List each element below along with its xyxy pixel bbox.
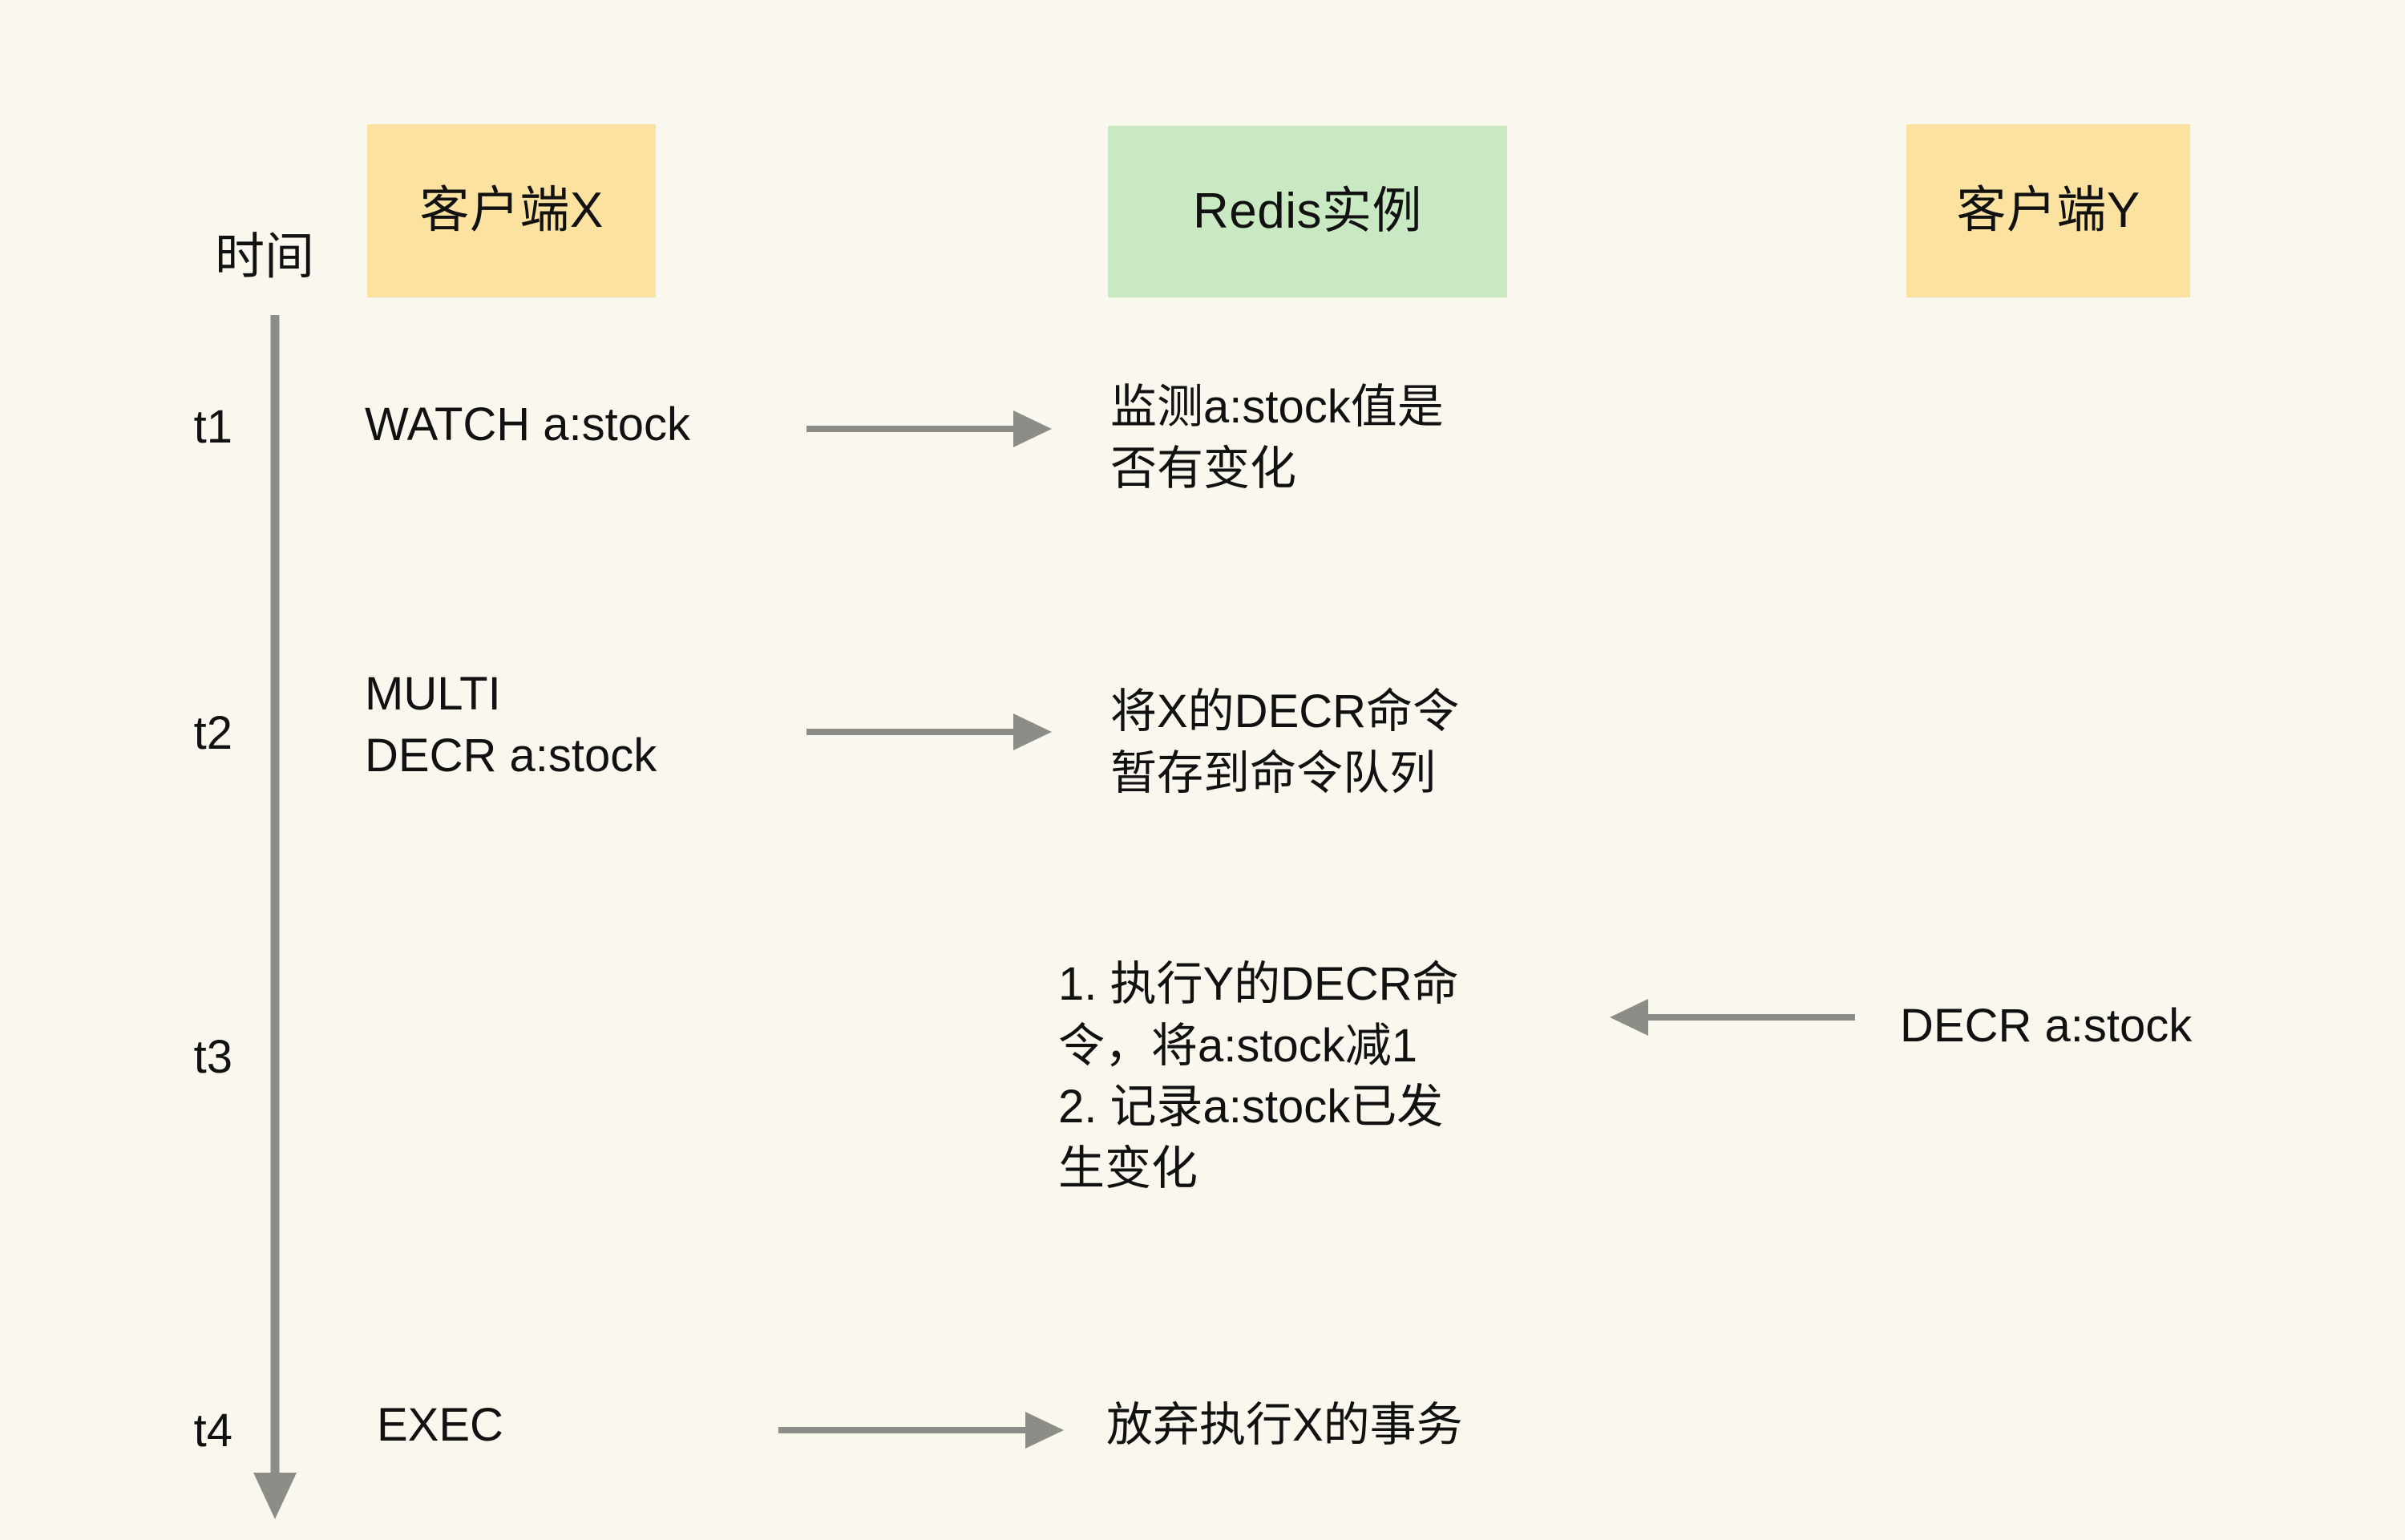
lane-header-client-y-label: 客户端Y [1956,184,2140,238]
message-t1-client-x: WATCH a:stock [365,394,814,456]
message-t2-redis: 将X的DECR命令 暂存到命令队列 [1110,681,1623,804]
arrow-t3-client-y-to-redis [1595,989,1860,1045]
message-t4-client-x: EXEC [377,1395,778,1457]
lane-header-client-x: 客户端X [367,124,656,297]
time-tick-t1: t1 [144,404,232,451]
message-t4-redis: 放弃执行X的事务 [1106,1395,1667,1457]
arrow-t1-client-x-to-redis [802,401,1066,457]
lane-header-client-y: 客户端Y [1906,124,2190,297]
arrow-t2-client-x-to-redis [802,704,1066,760]
lane-header-redis-label: Redis实例 [1193,184,1422,239]
time-axis-arrow-icon [240,309,313,1527]
time-tick-t3: t3 [144,1034,232,1081]
message-t3-client-y: DECR a:stock [1900,996,2405,1057]
message-t1-redis: 监测a:stock值是 否有变化 [1110,377,1623,499]
lane-header-redis: Redis实例 [1108,126,1507,297]
arrow-t4-client-x-to-redis [774,1402,1078,1458]
time-axis-label: 时间 [215,231,314,283]
time-tick-t2: t2 [144,710,232,757]
lane-header-client-x-label: 客户端X [419,184,603,238]
message-t2-client-x: MULTI DECR a:stock [365,664,846,786]
time-tick-t4: t4 [144,1408,232,1454]
diagram-canvas: 客户端X Redis实例 客户端Y 时间 t1 t2 t3 t4 WATCH a… [0,0,2405,1540]
message-t3-redis: 1. 执行Y的DECR命 令，将a:stock减1 2. 记录a:stock已发… [1058,954,1603,1199]
